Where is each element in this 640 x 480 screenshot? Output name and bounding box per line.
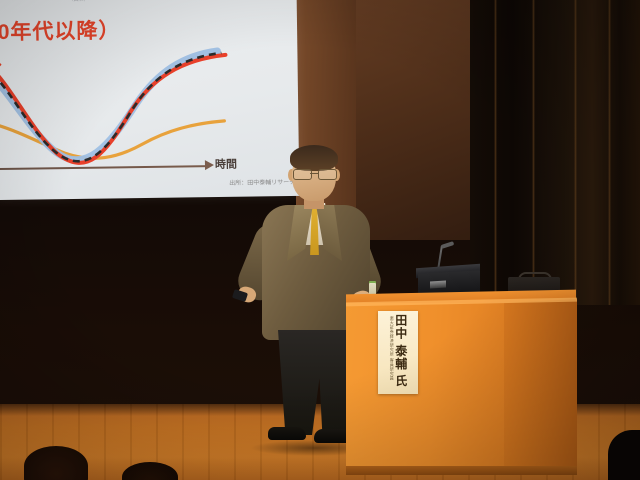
nameplate-name: 田中 泰輔 氏 (395, 314, 407, 388)
audience-head (24, 446, 88, 480)
speaker-trousers (278, 330, 352, 435)
speaker-hair (290, 145, 338, 171)
time-axis-arrow (205, 160, 214, 170)
microphone-base (430, 280, 446, 288)
slide-top-faint-text: （図表） (69, 0, 89, 3)
slide-line-chart (0, 33, 243, 176)
presentation-photo: （図表） 00年代以降） レ 時間 出所：田中泰輔リサーチ作成 (0, 0, 640, 480)
speaker-shoe-left (268, 427, 306, 440)
speaker-shoe-right (314, 429, 350, 443)
audience-head (608, 430, 640, 480)
stage-curtain (470, 0, 640, 305)
podium-side (503, 299, 577, 475)
glasses-icon (292, 169, 337, 179)
podium-base-lip (346, 466, 577, 475)
podium-nameplate: 田中 泰輔 氏 楽天証券経済研究所 客員研究員 (378, 311, 418, 394)
podium-front (346, 303, 504, 473)
